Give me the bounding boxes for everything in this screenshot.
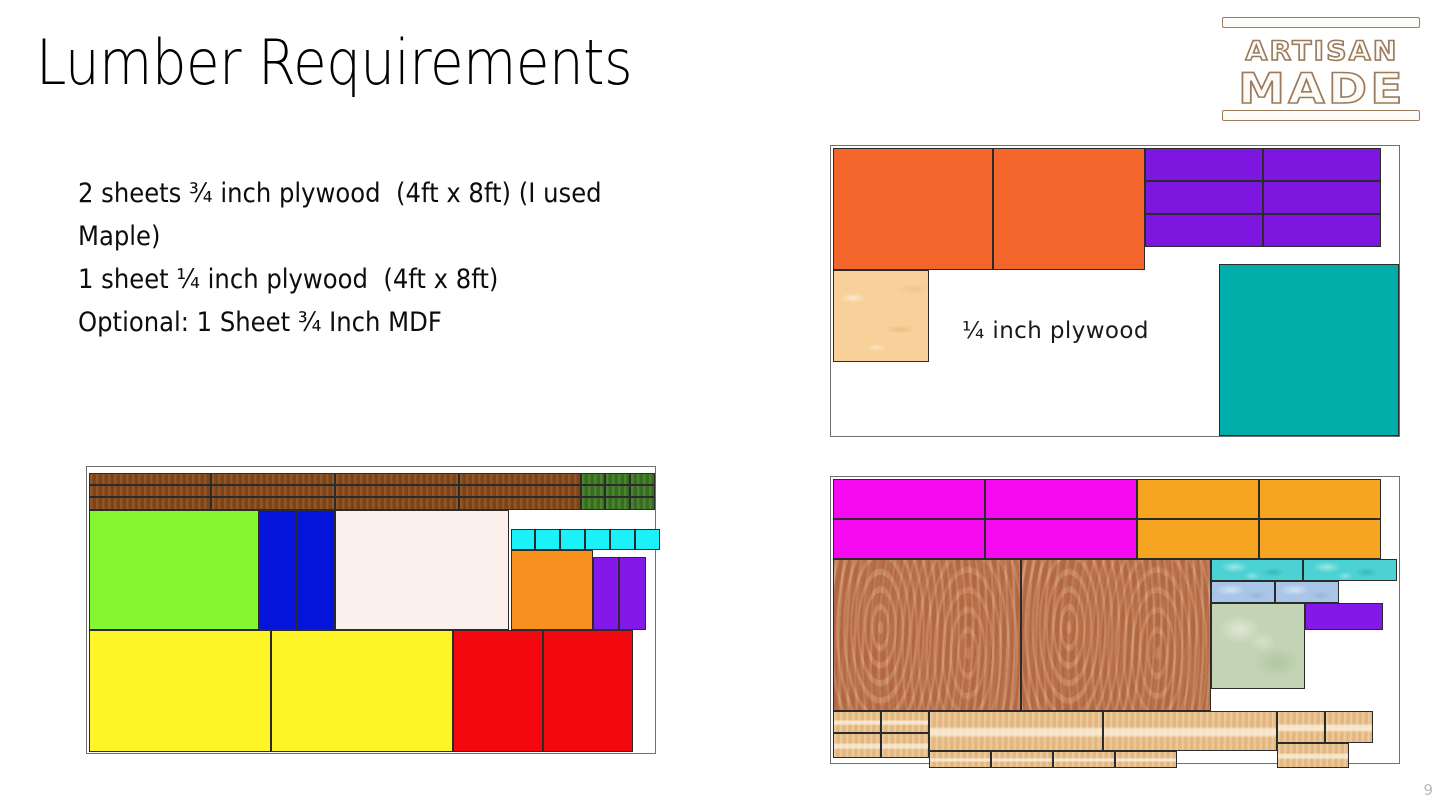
walnut-strip-r2c1 xyxy=(89,485,211,497)
magenta-panel-r2c1 xyxy=(833,519,985,559)
forest-block-r2c1 xyxy=(581,485,605,497)
requirement-line: 2 sheets ¾ inch plywood (4ft x 8ft) (I u… xyxy=(78,172,654,215)
red-panel-2 xyxy=(543,630,633,752)
magenta-panel-r1c1 xyxy=(833,479,985,519)
purple-strip-6 xyxy=(1263,214,1381,247)
requirement-line: Optional: 1 Sheet ¾ Inch MDF xyxy=(78,301,654,344)
cyan-strip-1 xyxy=(511,529,535,550)
orange-panel-1 xyxy=(833,148,993,270)
pink-panel xyxy=(335,510,509,630)
walnut-strip-r3c4 xyxy=(459,497,581,510)
walnut-strip-r2c3 xyxy=(335,485,459,497)
oak-small-4 xyxy=(1115,751,1177,768)
walnut-strip-r3c3 xyxy=(335,497,459,510)
walnut-strip-r1c1 xyxy=(89,473,211,485)
cyan-strip-5 xyxy=(610,529,635,550)
oak-right-r1c1 xyxy=(1277,711,1325,743)
purple-strip-5 xyxy=(1145,214,1263,247)
oak-block-r1c2 xyxy=(881,711,929,733)
three-quarter-plywood-sheet-2 xyxy=(830,476,1400,764)
requirement-line: 1 sheet ¼ inch plywood (4ft x 8ft) xyxy=(78,258,654,301)
oak-small-3 xyxy=(1053,751,1115,768)
yellow-panel-1 xyxy=(89,630,271,752)
walnut-strip-r2c4 xyxy=(459,485,581,497)
cyan-strip-6 xyxy=(635,529,660,550)
page-number: 9 xyxy=(1423,781,1433,799)
green-panel xyxy=(89,510,259,630)
orange-panel-2 xyxy=(993,148,1145,270)
oak-block-r2c2 xyxy=(881,733,929,758)
purple-strip-2 xyxy=(1263,148,1381,181)
oak-long-2 xyxy=(1103,711,1277,751)
magenta-panel-r1c2 xyxy=(985,479,1137,519)
logo-made-text: MADE xyxy=(1200,64,1444,113)
walnut-strip-r1c4 xyxy=(459,473,581,485)
teal-strip-1 xyxy=(1211,559,1303,581)
cherry-panel-1 xyxy=(833,559,1021,711)
blue-strip-1 xyxy=(1211,581,1275,603)
amber-panel-r1c2 xyxy=(1259,479,1381,519)
amber-panel-r2c2 xyxy=(1259,519,1381,559)
logo-artisan-text: ARTISAN xyxy=(1208,36,1437,67)
oak-right-r2 xyxy=(1277,743,1349,768)
forest-block-r3c2 xyxy=(605,497,630,510)
three-quarter-plywood-sheet-1 xyxy=(86,466,656,754)
maple-panel xyxy=(833,270,929,362)
walnut-strip-r1c3 xyxy=(335,473,459,485)
blue-panel-2 xyxy=(297,510,335,630)
orange-panel xyxy=(511,550,593,630)
cyan-strip-2 xyxy=(535,529,560,550)
forest-block-r3c3 xyxy=(630,497,655,510)
artisan-made-logo: ARTISAN MADE xyxy=(1213,14,1431,126)
red-panel-1 xyxy=(453,630,543,752)
forest-block-r2c3 xyxy=(630,485,655,497)
cherry-panel-2 xyxy=(1021,559,1211,711)
walnut-strip-r3c1 xyxy=(89,497,211,510)
logo-bottom-bar-icon xyxy=(1222,110,1420,121)
sage-panel xyxy=(1211,603,1305,689)
purple-strip-4 xyxy=(1263,181,1381,214)
purple-strip-3 xyxy=(1145,181,1263,214)
walnut-strip-r2c2 xyxy=(211,485,335,497)
lumber-requirements-list: 2 sheets ¾ inch plywood (4ft x 8ft) (I u… xyxy=(78,172,654,344)
walnut-strip-r1c2 xyxy=(211,473,335,485)
blue-strip-2 xyxy=(1275,581,1339,603)
oak-small-2 xyxy=(991,751,1053,768)
cyan-strip-3 xyxy=(560,529,585,550)
oak-right-r1c2 xyxy=(1325,711,1373,743)
forest-block-r2c2 xyxy=(605,485,630,497)
amber-panel-r1c1 xyxy=(1137,479,1259,519)
violet-strip-2 xyxy=(619,557,646,630)
forest-block-r1c3 xyxy=(630,473,655,485)
oak-block-r1c1 xyxy=(833,711,881,733)
logo-top-bar-icon xyxy=(1222,17,1420,28)
oak-block-r2c1 xyxy=(833,733,881,758)
amber-panel-r2c1 xyxy=(1137,519,1259,559)
oak-small-1 xyxy=(929,751,991,768)
yellow-panel-2 xyxy=(271,630,453,752)
purple-strip-1 xyxy=(1145,148,1263,181)
forest-block-r3c1 xyxy=(581,497,605,510)
violet-strip-1 xyxy=(593,557,619,630)
teal-strip-2 xyxy=(1303,559,1397,581)
walnut-strip-r3c2 xyxy=(211,497,335,510)
teal-panel xyxy=(1219,264,1399,436)
violet-panel xyxy=(1305,603,1383,630)
magenta-panel-r2c2 xyxy=(985,519,1137,559)
oak-long-1 xyxy=(929,711,1103,751)
forest-block-r1c1 xyxy=(581,473,605,485)
blue-panel-1 xyxy=(259,510,297,630)
forest-block-r1c2 xyxy=(605,473,630,485)
quarter-inch-plywood-sheet xyxy=(830,145,1400,437)
page-title: Lumber Requirements xyxy=(36,30,632,95)
quarter-inch-plywood-sheet-label: ¼ inch plywood xyxy=(962,318,1149,344)
requirement-line: Maple) xyxy=(78,215,654,258)
cyan-strip-4 xyxy=(585,529,610,550)
